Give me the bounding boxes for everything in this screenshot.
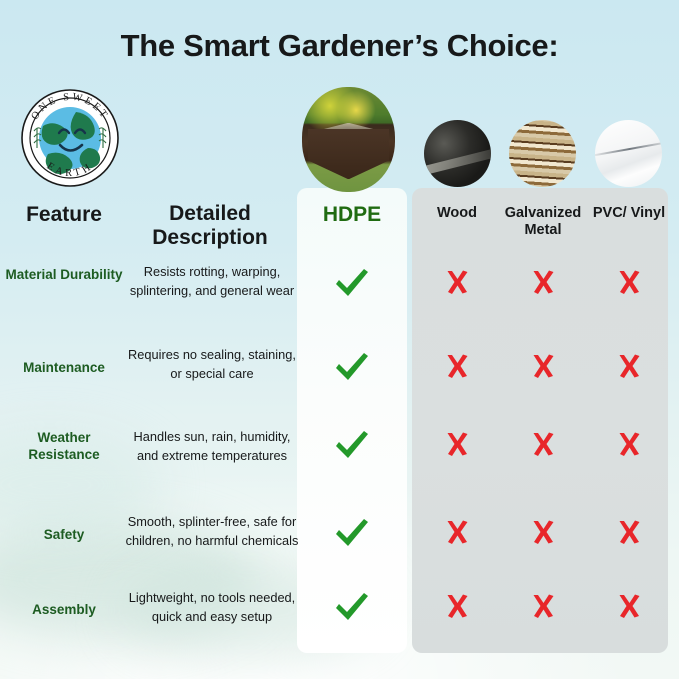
cross-icon bbox=[615, 268, 643, 296]
mark-wood bbox=[412, 592, 502, 620]
mark-hdpe bbox=[297, 352, 407, 382]
cross-icon bbox=[615, 352, 643, 380]
mark-pvc-vinyl bbox=[586, 268, 672, 296]
one-sweet-earth-logo: ONE SWEET EARTH bbox=[18, 86, 122, 190]
page-title: The Smart Gardener’s Choice: bbox=[0, 28, 679, 64]
cross-icon bbox=[443, 592, 471, 620]
cross-icon bbox=[529, 352, 557, 380]
check-icon bbox=[333, 268, 371, 298]
cross-icon bbox=[529, 430, 557, 458]
feature-description: Lightweight, no tools needed, quick and … bbox=[122, 589, 302, 626]
competitor-columns-panel bbox=[412, 188, 668, 653]
feature-description: Resists rotting, warping, splintering, a… bbox=[122, 263, 302, 300]
mark-pvc-vinyl bbox=[586, 352, 672, 380]
feature-label: Material Durability bbox=[0, 267, 128, 284]
mark-hdpe bbox=[297, 430, 407, 460]
hdpe-column-panel bbox=[297, 188, 407, 653]
mark-wood bbox=[412, 430, 502, 458]
cracked-pvc-vinyl-thumb bbox=[595, 120, 662, 187]
mark-pvc-vinyl bbox=[586, 518, 672, 546]
mark-pvc-vinyl bbox=[586, 592, 672, 620]
column-header-hdpe: HDPE bbox=[297, 203, 407, 227]
cross-icon bbox=[615, 430, 643, 458]
check-icon bbox=[333, 592, 371, 622]
rotted-wood-thumb bbox=[424, 120, 491, 187]
feature-label: Maintenance bbox=[0, 360, 128, 377]
cross-icon bbox=[443, 268, 471, 296]
column-header-wood: Wood bbox=[412, 205, 502, 222]
check-icon bbox=[333, 352, 371, 382]
cross-icon bbox=[443, 430, 471, 458]
mark-wood bbox=[412, 352, 502, 380]
feature-description: Handles sun, rain, humidity, and extreme… bbox=[122, 428, 302, 465]
feature-description: Smooth, splinter-free, safe for children… bbox=[122, 513, 302, 550]
feature-label: Safety bbox=[0, 527, 128, 544]
feature-label: Weather Resistance bbox=[0, 430, 128, 464]
hdpe-raised-garden-bed-thumb bbox=[302, 87, 395, 192]
check-icon bbox=[333, 430, 371, 460]
cross-icon bbox=[529, 592, 557, 620]
cross-icon bbox=[443, 518, 471, 546]
mark-galvanized-metal bbox=[497, 518, 589, 546]
feature-description: Requires no sealing, staining, or specia… bbox=[122, 346, 302, 383]
cross-icon bbox=[615, 518, 643, 546]
mark-wood bbox=[412, 268, 502, 296]
cross-icon bbox=[529, 518, 557, 546]
mark-hdpe bbox=[297, 592, 407, 622]
check-icon bbox=[333, 518, 371, 548]
column-header-feature: Feature bbox=[0, 203, 128, 227]
mark-wood bbox=[412, 518, 502, 546]
mark-hdpe bbox=[297, 518, 407, 548]
cross-icon bbox=[443, 352, 471, 380]
mark-galvanized-metal bbox=[497, 352, 589, 380]
cross-icon bbox=[615, 592, 643, 620]
column-header-description: Detailed Description bbox=[130, 202, 290, 250]
rusted-galvanized-metal-thumb bbox=[509, 120, 576, 187]
mark-galvanized-metal bbox=[497, 268, 589, 296]
column-header-pvc-vinyl: PVC/ Vinyl bbox=[586, 205, 672, 222]
mark-galvanized-metal bbox=[497, 592, 589, 620]
cross-icon bbox=[529, 268, 557, 296]
mark-galvanized-metal bbox=[497, 430, 589, 458]
mark-pvc-vinyl bbox=[586, 430, 672, 458]
mark-hdpe bbox=[297, 268, 407, 298]
feature-label: Assembly bbox=[0, 602, 128, 619]
comparison-infographic: The Smart Gardener’s Choice: ONE SWEET E… bbox=[0, 0, 679, 679]
column-header-galvanized-metal: Galvanized Metal bbox=[497, 205, 589, 238]
